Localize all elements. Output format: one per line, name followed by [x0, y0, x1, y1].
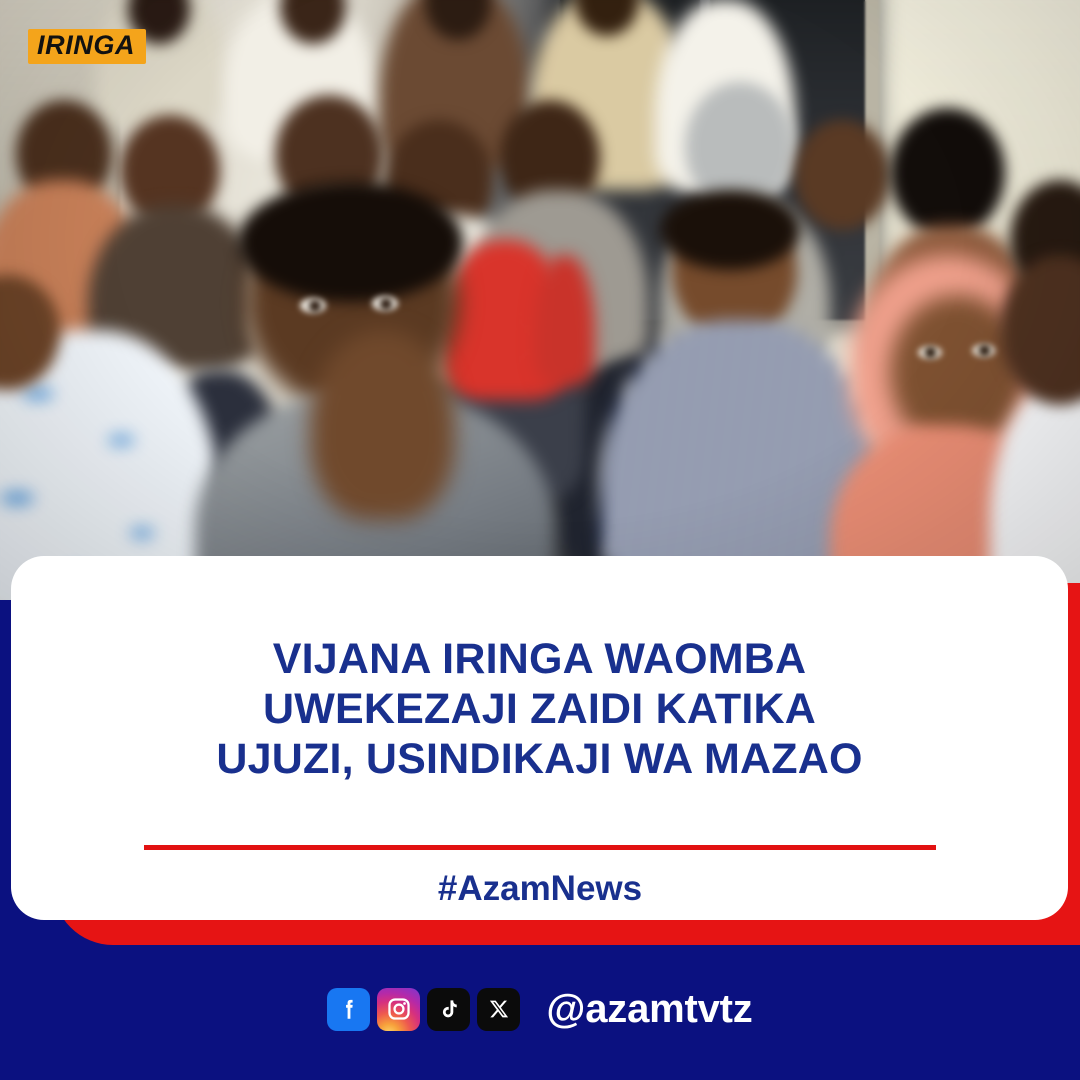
hand [310, 330, 455, 520]
headline-line-1: VIJANA IRINGA WAOMBA [11, 634, 1068, 684]
crowd-head [890, 108, 1005, 238]
facebook-icon[interactable] [327, 988, 370, 1031]
social-handle[interactable]: @azamtvtz [546, 987, 752, 1031]
red-cloth [535, 255, 595, 385]
social-links-row: @azamtvtz [0, 985, 1080, 1033]
red-divider [144, 845, 936, 850]
location-badge-label: IRINGA [37, 32, 135, 59]
page-title: VIJANA IRINGA WAOMBA UWEKEZAJI ZAIDI KAT… [11, 634, 1068, 784]
eye-pupil [979, 345, 990, 356]
x-icon[interactable] [477, 988, 520, 1031]
eye-pupil [925, 347, 936, 358]
eye-pupil [380, 298, 392, 310]
hair [660, 190, 800, 270]
news-graphic-canvas: IRINGA VIJANA IRINGA WAOMBA UWEKEZAJI ZA… [0, 0, 1080, 1080]
headline-line-2: UWEKEZAJI ZAIDI KATIKA [11, 684, 1068, 734]
instagram-icon[interactable] [377, 988, 420, 1031]
tiktok-icon[interactable] [427, 988, 470, 1031]
news-photo [0, 0, 1080, 600]
hashtag-label: #AzamNews [0, 869, 1080, 909]
headline-card: VIJANA IRINGA WAOMBA UWEKEZAJI ZAIDI KAT… [11, 556, 1068, 920]
crowd-head [795, 120, 890, 230]
headline-line-3: UJUZI, USINDIKAJI WA MAZAO [11, 734, 1068, 784]
hair [238, 182, 463, 302]
eye-pupil [309, 300, 321, 312]
location-badge: IRINGA [28, 29, 146, 64]
